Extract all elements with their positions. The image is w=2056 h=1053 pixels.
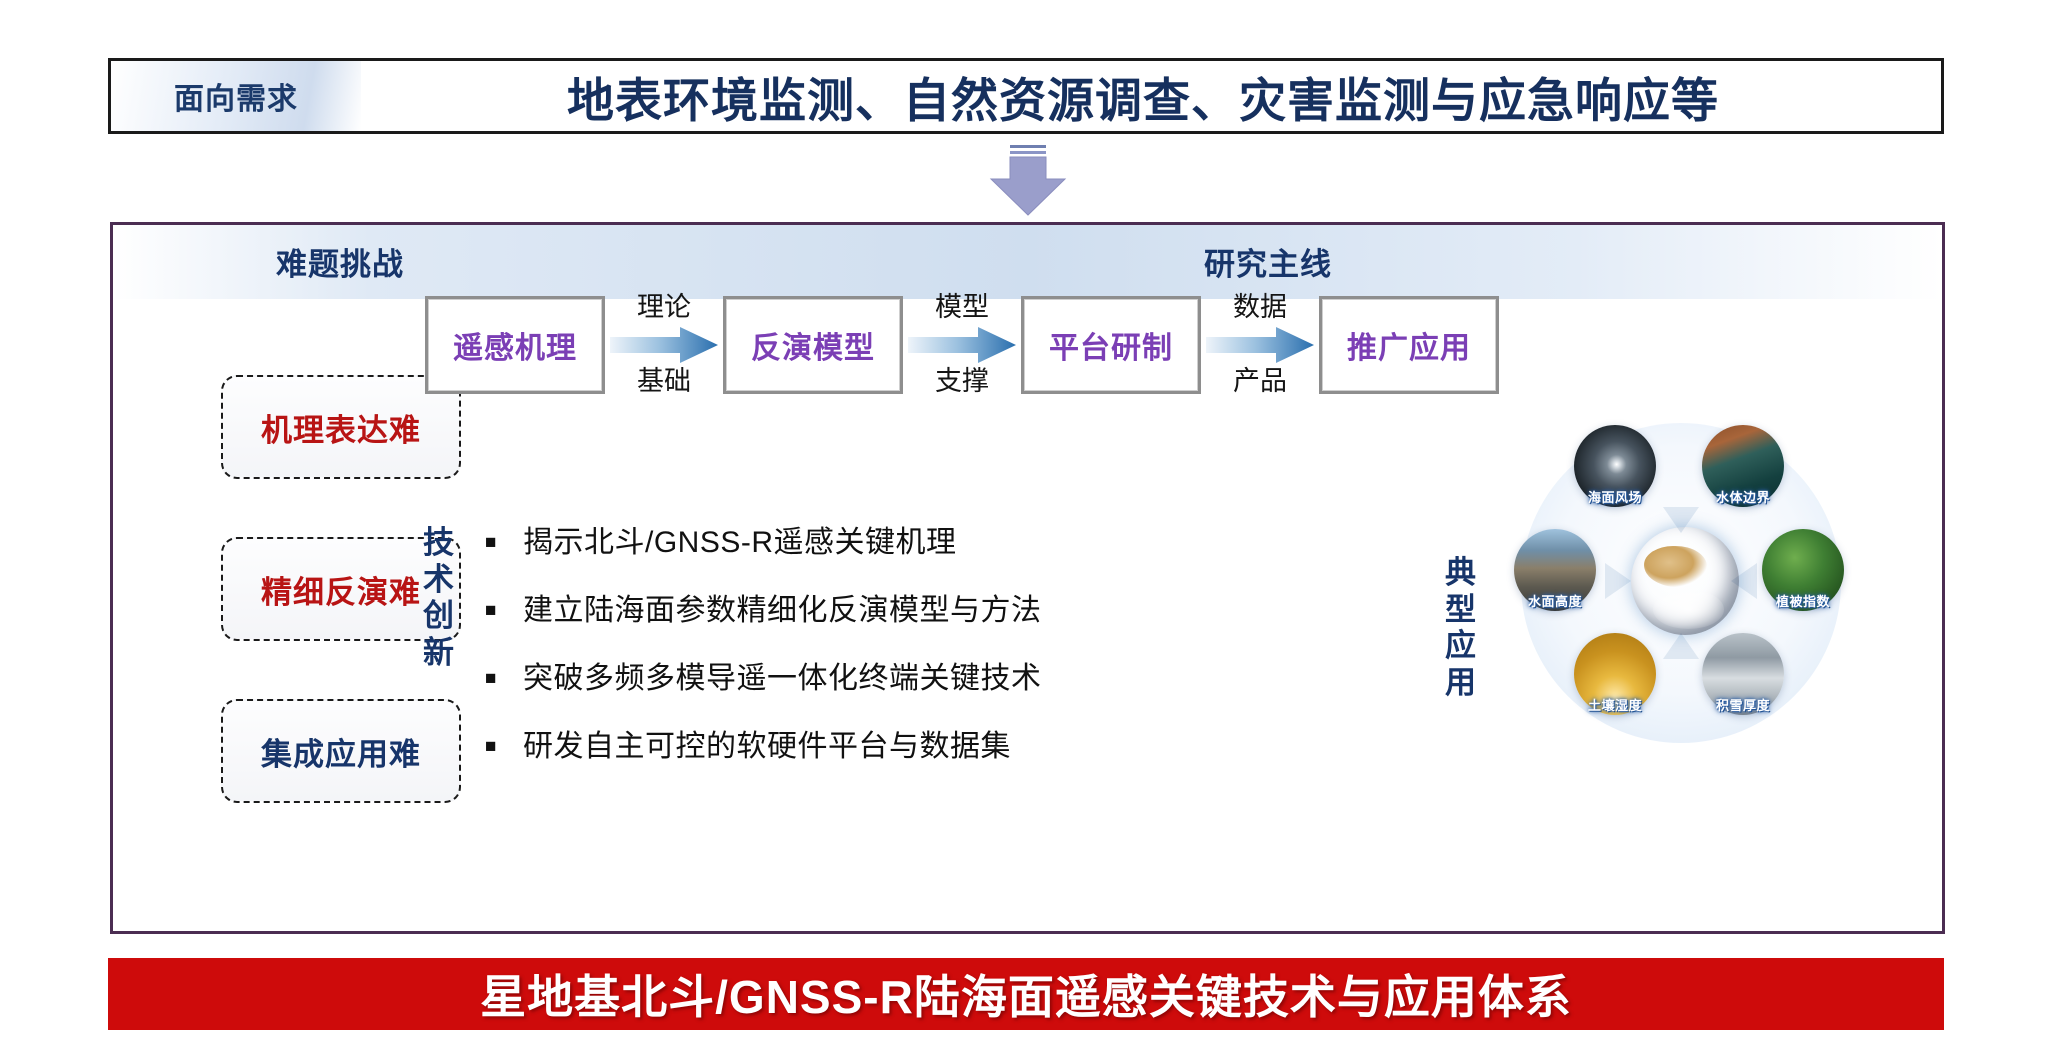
- app-label-6: 积雪厚度: [1697, 695, 1789, 714]
- flow-box-4[interactable]: 推广应用: [1319, 296, 1499, 394]
- applications-diagram: 海面风场 水体边界 水面高度 植被指数 土壤湿度 积雪厚度: [1513, 415, 1903, 745]
- connector-bottom-label-3: 产品: [1233, 367, 1287, 397]
- list-item: ■ 研发自主可控的软硬件平台与数据集: [485, 721, 1225, 765]
- challenge-label-1: 机理表达难: [261, 405, 421, 450]
- right-arrow-icon: [1206, 326, 1314, 364]
- right-arrow-icon: [908, 326, 1016, 364]
- app-node-snow-depth[interactable]: 积雪厚度: [1697, 633, 1789, 714]
- bullet-text-1: 揭示北斗/GNSS-R遥感关键机理: [523, 517, 957, 561]
- app-node-water-level[interactable]: 水面高度: [1509, 529, 1601, 610]
- bullet-text-4: 研发自主可控的软硬件平台与数据集: [523, 721, 1011, 765]
- down-arrow-icon: [985, 143, 1071, 217]
- connector-top-label-2: 模型: [935, 293, 989, 323]
- process-flow: 遥感机理 理论 基础 反演模型 模型: [425, 275, 1825, 415]
- needs-title: 地表环境监测、自然资源调查、灾害监测与应急响应等: [361, 61, 1941, 131]
- footer-banner-text: 星地基北斗/GNSS-R陆海面遥感关键技术与应用体系: [480, 961, 1572, 1027]
- challenge-label-2: 精细反演难: [261, 567, 421, 612]
- challenge-label-3: 集成应用难: [261, 729, 421, 774]
- app-node-soil-moisture[interactable]: 土壤湿度: [1569, 633, 1661, 714]
- bullet-square-icon: ■: [485, 601, 523, 620]
- app-label-1: 海面风场: [1569, 487, 1661, 506]
- tech-innovation-label: 技术创新: [413, 525, 465, 671]
- flow-connector-2: 模型 支撑: [903, 276, 1021, 414]
- flow-box-label-2: 反演模型: [751, 323, 875, 367]
- list-item: ■ 揭示北斗/GNSS-R遥感关键机理: [485, 517, 1225, 561]
- flow-box-label-1: 遥感机理: [453, 323, 577, 367]
- list-item: ■ 建立陆海面参数精细化反演模型与方法: [485, 585, 1225, 629]
- bullet-square-icon: ■: [485, 669, 523, 688]
- flow-connector-3: 数据 产品: [1201, 276, 1319, 414]
- earth-globe-icon: [1631, 527, 1739, 635]
- needs-badge: 面向需求: [111, 61, 361, 131]
- connector-bottom-label-1: 基础: [637, 367, 691, 397]
- right-arrow-icon: [610, 326, 718, 364]
- list-item: ■ 突破多频多模导遥一体化终端关键技术: [485, 653, 1225, 697]
- challenge-card-3[interactable]: 集成应用难: [221, 699, 461, 803]
- footer-banner: 星地基北斗/GNSS-R陆海面遥感关键技术与应用体系: [108, 958, 1944, 1030]
- flow-box-3[interactable]: 平台研制: [1021, 296, 1201, 394]
- app-label-3: 水面高度: [1509, 591, 1601, 610]
- flow-box-label-4: 推广应用: [1347, 323, 1471, 367]
- flow-box-2[interactable]: 反演模型: [723, 296, 903, 394]
- main-panel: 难题挑战 研究主线 机理表达难 精细反演难 集成应用难 遥感机理 理论: [110, 222, 1945, 934]
- slide-root: 面向需求 地表环境监测、自然资源调查、灾害监测与应急响应等 难题挑战 研究主线 …: [0, 0, 2056, 1053]
- connector-top-label-1: 理论: [637, 293, 691, 323]
- typical-applications-label: 典型应用: [1435, 555, 1487, 701]
- app-label-4: 植被指数: [1757, 591, 1849, 610]
- connector-bottom-label-2: 支撑: [935, 367, 989, 397]
- flow-box-1[interactable]: 遥感机理: [425, 296, 605, 394]
- bullet-square-icon: ■: [485, 533, 523, 552]
- needs-badge-label: 面向需求: [174, 74, 298, 118]
- app-label-2: 水体边界: [1697, 487, 1789, 506]
- connector-top-label-3: 数据: [1233, 293, 1287, 323]
- app-node-sea-wind[interactable]: 海面风场: [1569, 425, 1661, 506]
- bullet-text-3: 突破多频多模导遥一体化终端关键技术: [523, 653, 1042, 697]
- tech-bullet-list: ■ 揭示北斗/GNSS-R遥感关键机理 ■ 建立陆海面参数精细化反演模型与方法 …: [485, 517, 1225, 789]
- needs-bar: 面向需求 地表环境监测、自然资源调查、灾害监测与应急响应等: [108, 58, 1944, 134]
- bullet-square-icon: ■: [485, 737, 523, 756]
- app-node-water-boundary[interactable]: 水体边界: [1697, 425, 1789, 506]
- flow-box-label-3: 平台研制: [1049, 323, 1173, 367]
- bullet-text-2: 建立陆海面参数精细化反演模型与方法: [523, 585, 1042, 629]
- app-label-5: 土壤湿度: [1569, 695, 1661, 714]
- app-node-vegetation[interactable]: 植被指数: [1757, 529, 1849, 610]
- needs-title-text: 地表环境监测、自然资源调查、灾害监测与应急响应等: [567, 62, 1719, 131]
- flow-connector-1: 理论 基础: [605, 276, 723, 414]
